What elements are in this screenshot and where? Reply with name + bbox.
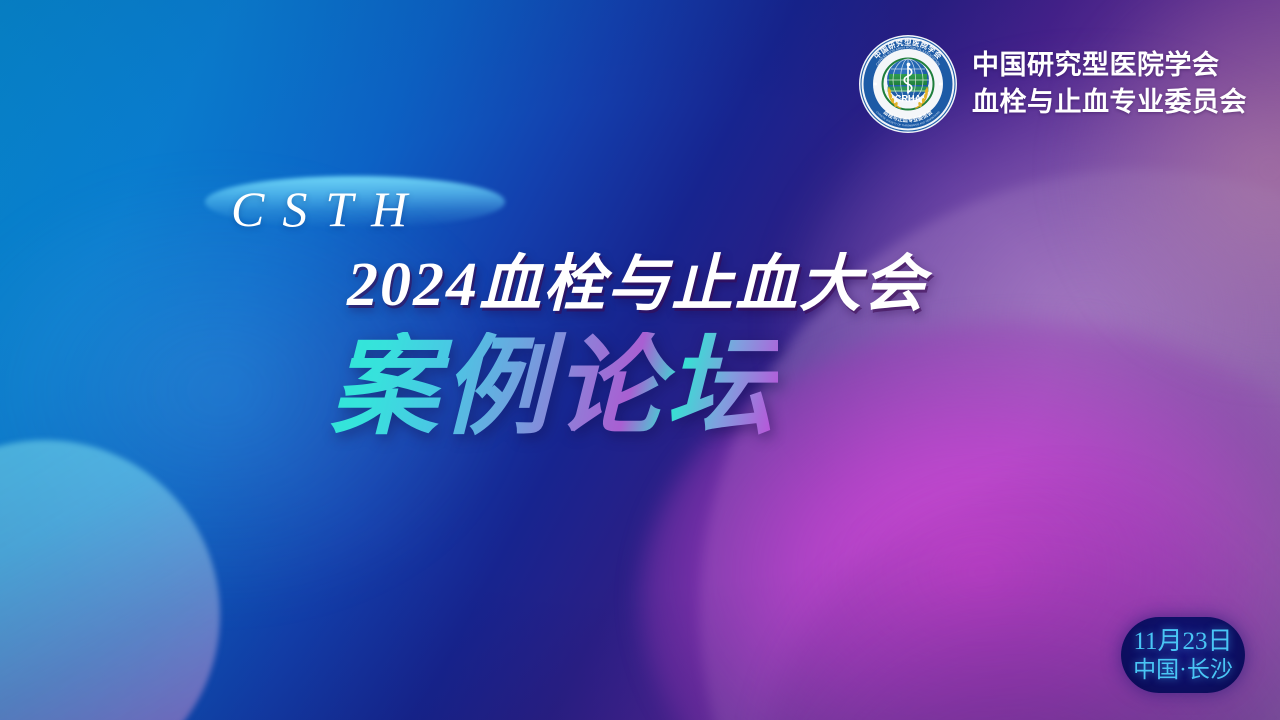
badge-venue-text: 中国·长沙	[1133, 657, 1233, 683]
society-name-block: 中国研究型医院学会 血栓与止血专业委员会	[972, 48, 1247, 119]
emblem-acronym-text: CRHA	[895, 94, 922, 104]
society-name-line-2: 血栓与止血专业委员会	[972, 85, 1247, 120]
badge-date-text: 11月23日	[1133, 628, 1232, 656]
crha-society-emblem-icon: 中国研究型医院学会 CHINESE RESEARCH HOSPITAL ASSO…	[858, 34, 958, 134]
society-header: 中国研究型医院学会 CHINESE RESEARCH HOSPITAL ASSO…	[858, 34, 1247, 134]
society-name-line-1: 中国研究型医院学会	[972, 48, 1247, 83]
date-venue-badge: 11月23日 中国·长沙	[1121, 617, 1245, 693]
conference-poster: 中国研究型医院学会 CHINESE RESEARCH HOSPITAL ASSO…	[0, 0, 1280, 720]
